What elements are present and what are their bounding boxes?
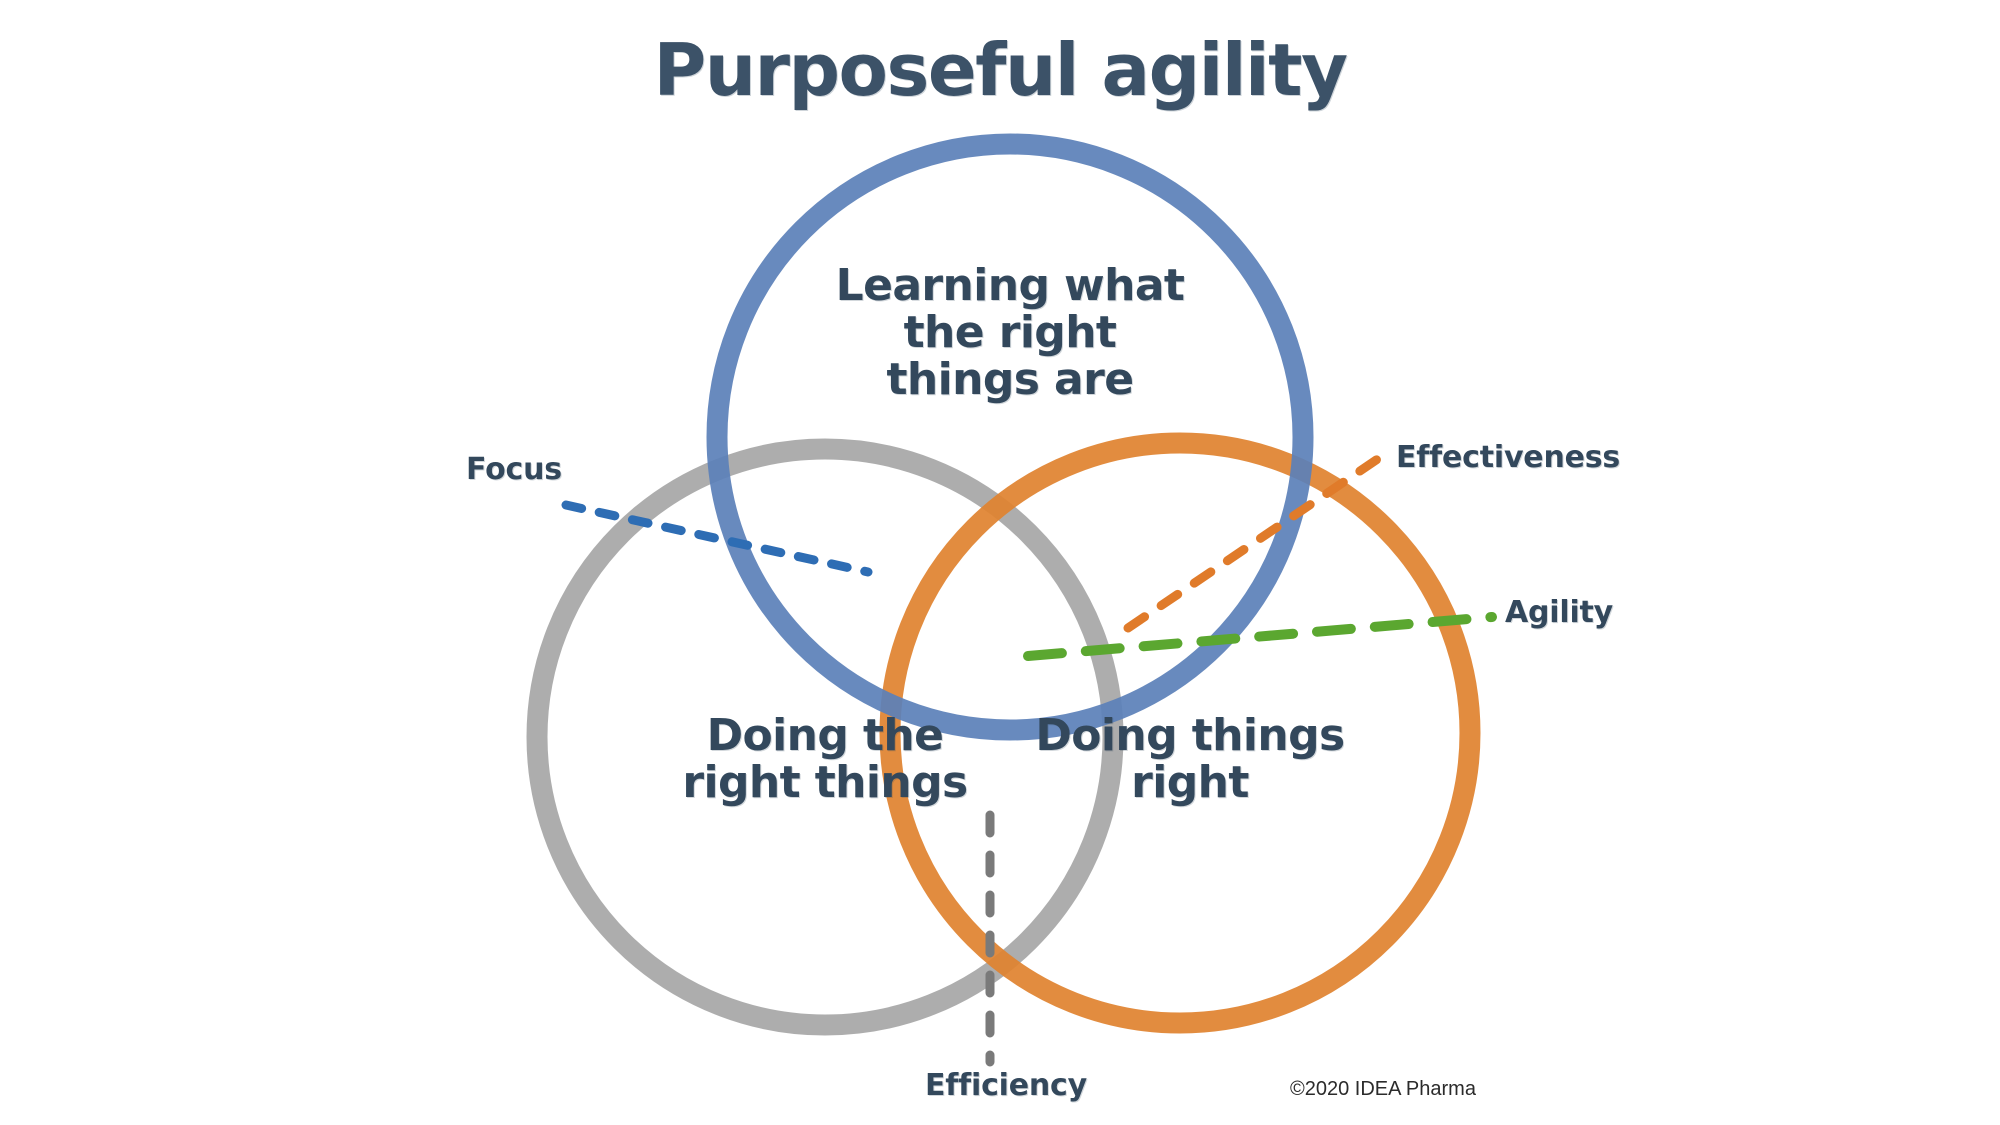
copyright-notice: ©2020 IDEA Pharma [1290, 1078, 1476, 1101]
venn-label-doing-things-right: Doing things right [940, 712, 1440, 806]
diagram-canvas: Purposeful agility Learning what the rig… [0, 0, 2000, 1125]
venn-diagram-graphic [0, 0, 2000, 1125]
annotation-label-agility: Agility [1505, 595, 1613, 630]
venn-label-learning-what-the-right-things-are: Learning what the right things are [760, 262, 1260, 403]
annotation-label-focus: Focus [466, 452, 562, 487]
annotation-label-efficiency: Efficiency [925, 1068, 1087, 1103]
annotation-label-effectiveness: Effectiveness [1396, 440, 1620, 475]
